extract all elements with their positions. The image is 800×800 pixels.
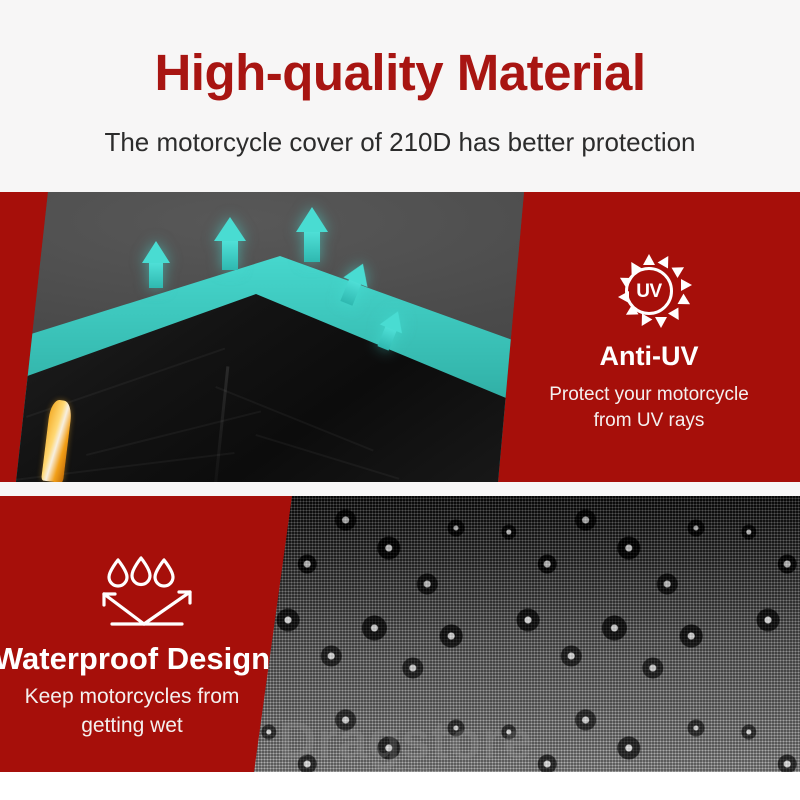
anti-uv-description: Protect your motorcycle from UV rays: [498, 382, 800, 434]
waterproof-description-line2: getting wet: [0, 711, 272, 740]
product-infographic: High-quality Material The motorcycle cov…: [0, 0, 800, 800]
uv-sun-icon: UV: [498, 254, 800, 328]
anti-uv-description-line1: Protect your motorcycle: [498, 382, 800, 408]
anti-uv-description-line2: from UV rays: [498, 408, 800, 434]
anti-uv-heading: Anti-UV: [498, 340, 800, 372]
waterproof-description: Keep motorcycles from getting wet: [0, 682, 272, 740]
anti-uv-panel: UV Anti-UV Protect your motorcycle from …: [498, 192, 800, 482]
page-title: High-quality Material: [0, 44, 800, 102]
page-subtitle: The motorcycle cover of 210D has better …: [0, 126, 800, 158]
footer-strip: [0, 772, 800, 800]
water-repellent-icon: [96, 554, 200, 632]
header: High-quality Material The motorcycle cov…: [0, 0, 800, 190]
section-anti-uv: UV Anti-UV Protect your motorcycle from …: [0, 192, 800, 482]
section-waterproof: Waterproof Design Keep motorcycles from …: [0, 496, 800, 772]
uv-icon-label: UV: [636, 282, 661, 301]
waterproof-heading: Waterproof Design: [0, 640, 282, 678]
waterproof-description-line1: Keep motorcycles from: [0, 682, 272, 711]
